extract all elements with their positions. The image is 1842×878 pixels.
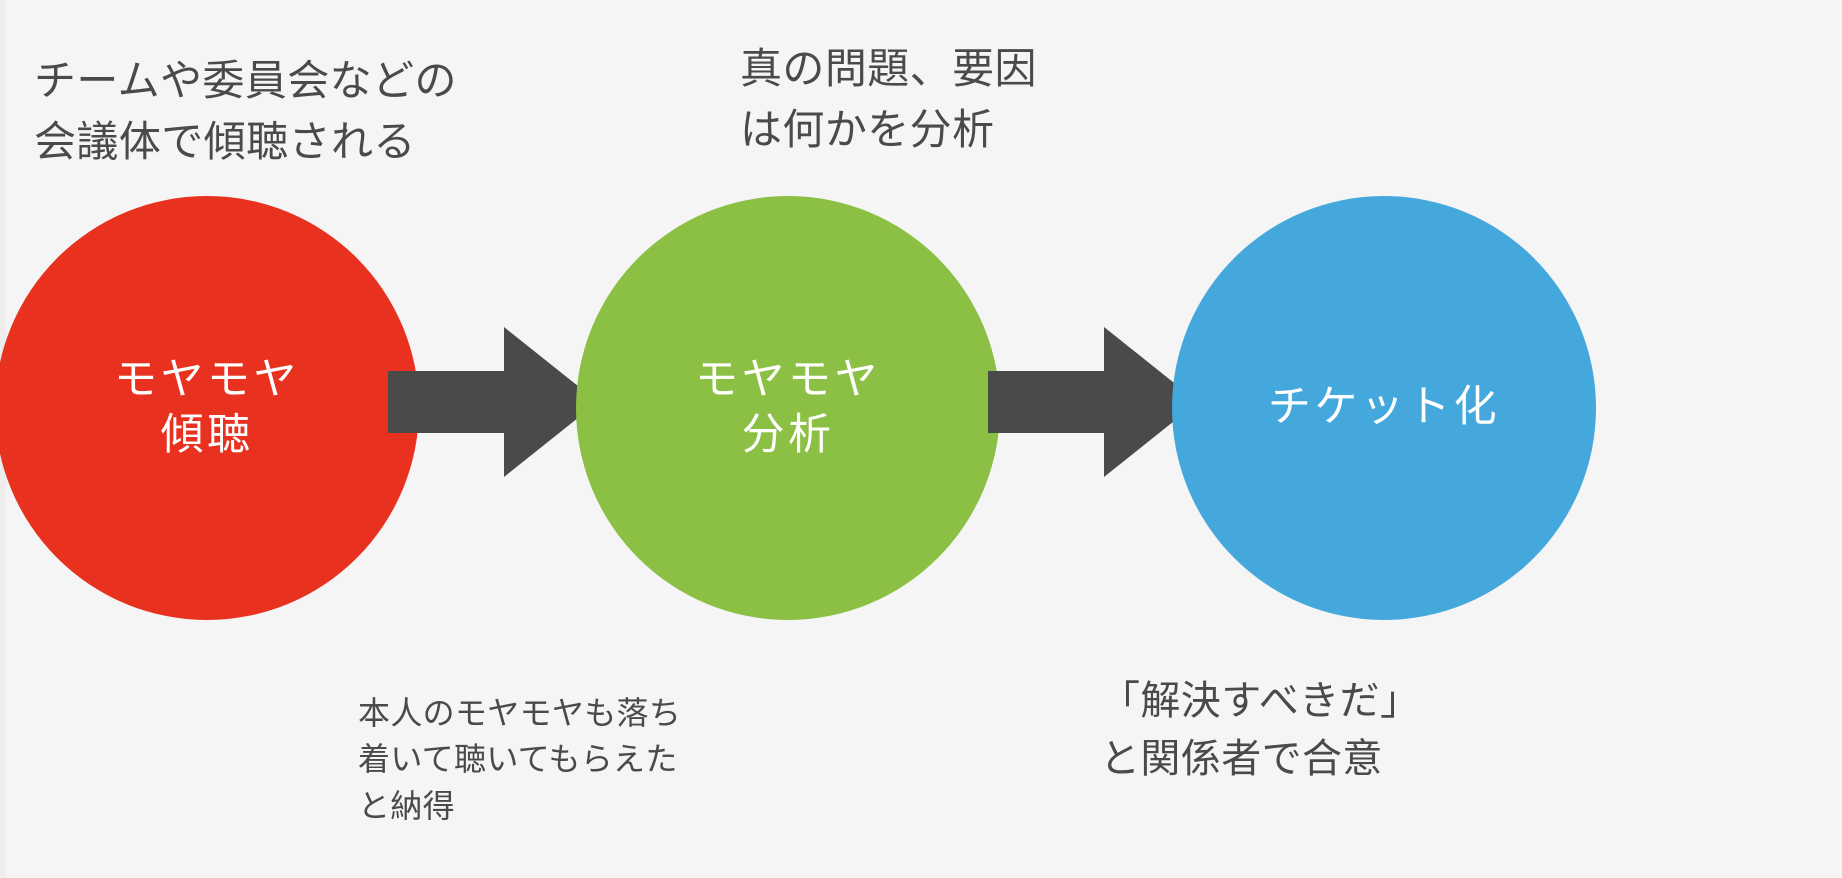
node-analyze-label-line2: 分析 <box>742 408 835 463</box>
arrow-analyze-to-ticket <box>988 327 1198 477</box>
caption-top-center-line2: は何かを分析 <box>740 101 1037 162</box>
caption-above-listening: チームや委員会などの 会議体で傾聴される <box>34 52 457 174</box>
caption-above-analysis: 真の問題、要因 は何かを分析 <box>740 40 1037 162</box>
caption-bottom-left-line2: 着いて聴いてもらえた <box>358 736 681 782</box>
caption-top-left-line2: 会議体で傾聴される <box>34 113 457 174</box>
caption-below-arrow-two: 「解決すべきだ」 と関係者で合意 <box>1100 672 1420 788</box>
caption-below-arrow-one: 本人のモヤモヤも落ち 着いて聴いてもらえた と納得 <box>358 690 681 829</box>
caption-top-left-line1: チームや委員会などの <box>34 52 457 113</box>
arrow-right-icon <box>988 327 1198 477</box>
node-listen-label-line1: モヤモヤ <box>114 353 300 408</box>
caption-top-center-line1: 真の問題、要因 <box>740 40 1037 101</box>
caption-bottom-left-line3: と納得 <box>358 783 681 829</box>
arrow-listen-to-analyze <box>388 327 598 477</box>
caption-bottom-right-line2: と関係者で合意 <box>1100 730 1420 788</box>
node-ticketization[interactable]: チケット化 <box>1172 196 1596 620</box>
caption-bottom-left-line1: 本人のモヤモヤも落ち <box>358 690 681 736</box>
node-ticket-label-line1: チケット化 <box>1268 380 1500 435</box>
node-moyamoya-analysis[interactable]: モヤモヤ 分析 <box>576 196 1000 620</box>
arrow-right-icon <box>388 327 598 477</box>
node-analyze-label-line1: モヤモヤ <box>695 353 881 408</box>
caption-bottom-right-line1: 「解決すべきだ」 <box>1100 672 1420 730</box>
node-moyamoya-listening[interactable]: モヤモヤ 傾聴 <box>0 196 419 620</box>
node-listen-label-line2: 傾聴 <box>161 408 254 463</box>
diagram-canvas: モヤモヤ 傾聴 モヤモヤ 分析 チケット化 チームや委員会などの 会議体で傾聴さ… <box>0 0 1842 878</box>
